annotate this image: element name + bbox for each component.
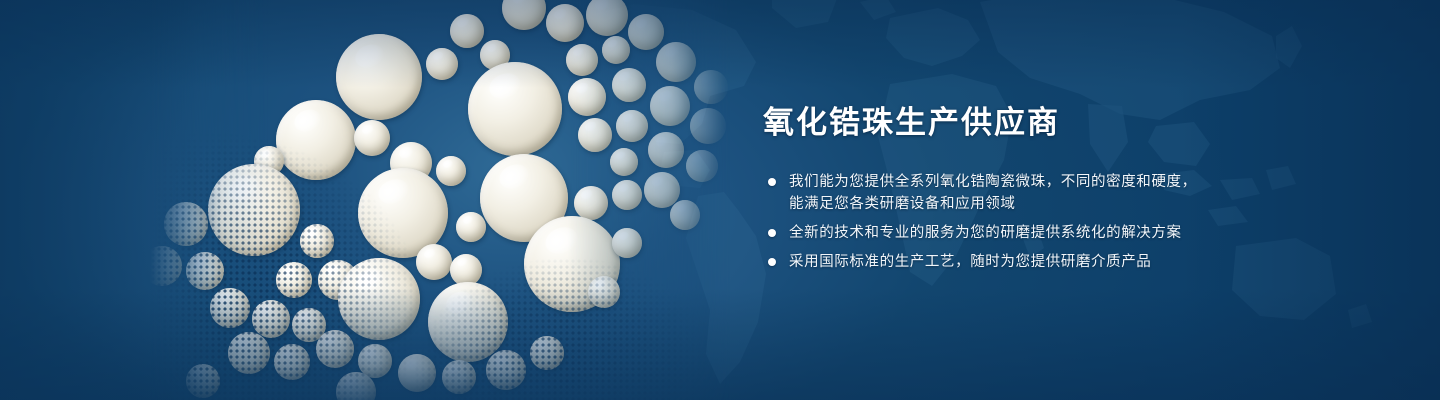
banner-title: 氧化锆珠生产供应商	[763, 104, 1403, 141]
list-item-line: 能满足您各类研磨设备和应用领域	[789, 193, 1403, 215]
list-item-line: 全新的技术和专业的服务为您的研磨提供系统化的解决方案	[789, 222, 1403, 244]
list-item-line: 采用国际标准的生产工艺，随时为您提供研磨介质产品	[789, 251, 1403, 273]
list-item: 我们能为您提供全系列氧化锆陶瓷微珠，不同的密度和硬度， 能满足您各类研磨设备和应…	[763, 171, 1403, 215]
bullet-dot-icon	[768, 229, 776, 237]
feature-list: 我们能为您提供全系列氧化锆陶瓷微珠，不同的密度和硬度， 能满足您各类研磨设备和应…	[763, 171, 1403, 273]
hero-banner: 氧化锆珠生产供应商 我们能为您提供全系列氧化锆陶瓷微珠，不同的密度和硬度， 能满…	[0, 0, 1440, 400]
bullet-dot-icon	[768, 258, 776, 266]
list-item: 全新的技术和专业的服务为您的研磨提供系统化的解决方案	[763, 222, 1403, 244]
list-item: 采用国际标准的生产工艺，随时为您提供研磨介质产品	[763, 251, 1403, 273]
list-item-line: 我们能为您提供全系列氧化锆陶瓷微珠，不同的密度和硬度，	[789, 171, 1403, 193]
bullet-dot-icon	[768, 178, 776, 186]
banner-copy: 氧化锆珠生产供应商 我们能为您提供全系列氧化锆陶瓷微珠，不同的密度和硬度， 能满…	[763, 104, 1403, 273]
